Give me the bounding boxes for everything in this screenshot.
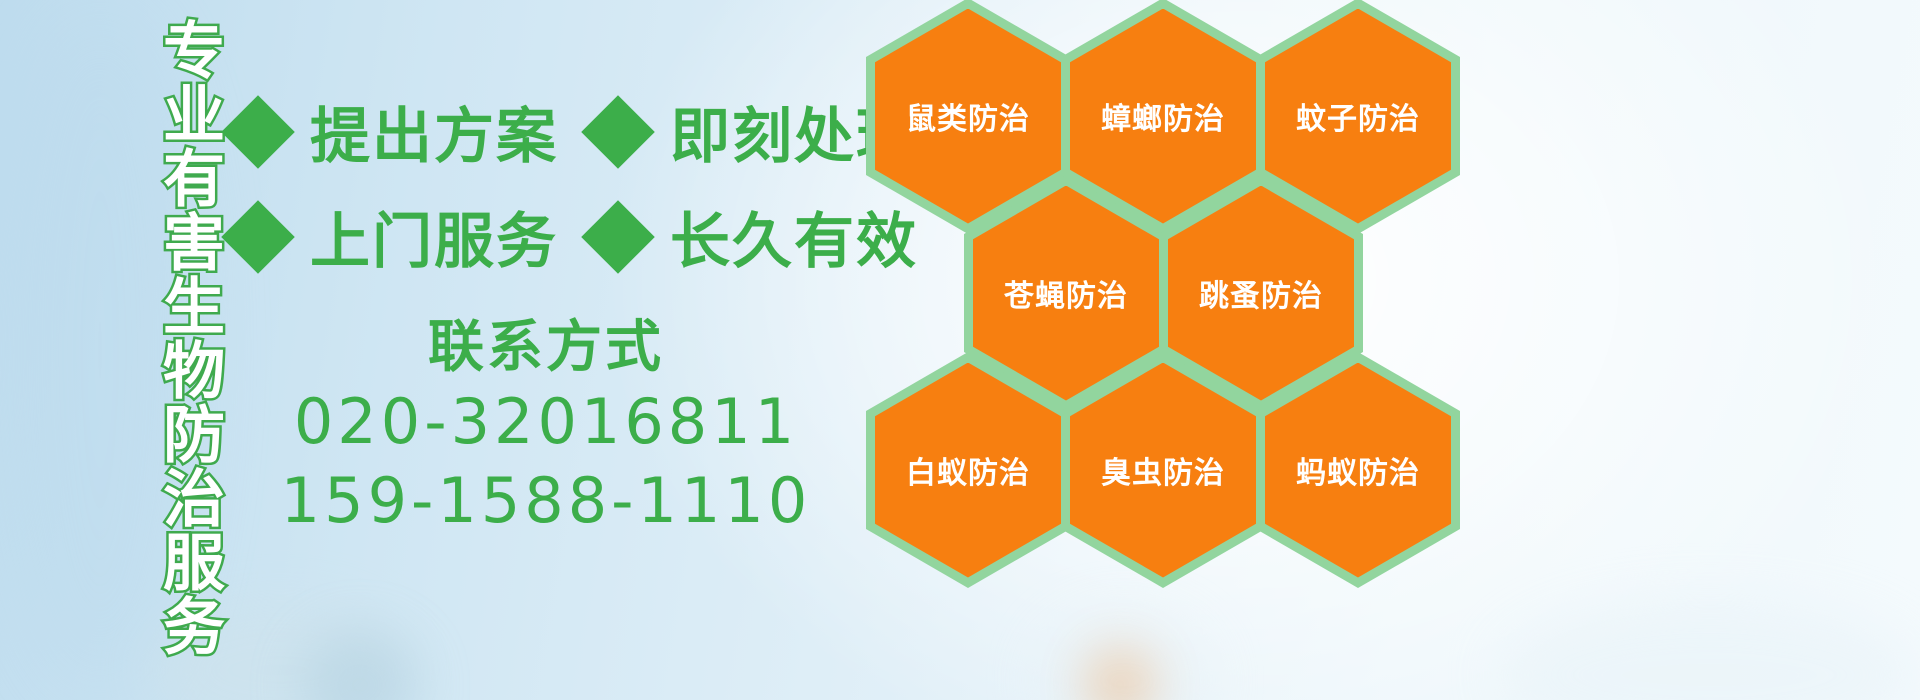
service-label-ant: 蚂蚁防治 (1296, 448, 1420, 492)
service-label-bedbug: 臭虫防治 (1101, 448, 1225, 492)
service-label-cockroach: 蟑螂防治 (1101, 94, 1225, 138)
service-label-fly: 苍蝇防治 (1004, 271, 1128, 315)
feature-label-onsite-service: 上门服务 (310, 193, 558, 280)
vertical-title: 专业有害生物防治服务 (104, 18, 220, 678)
service-label-flea: 跳蚤防治 (1199, 271, 1323, 315)
phone-number-mobile[interactable]: 159-1588-1110 (236, 461, 856, 540)
pest-control-banner: 专业有害生物防治服务 提出方案 即刻处理 上门服务 长久有效 联系方式 020-… (0, 0, 1920, 700)
service-label-termite: 白蚁防治 (906, 448, 1030, 492)
diamond-icon (581, 200, 655, 274)
service-label-rodent: 鼠类防治 (906, 94, 1030, 138)
hex-inner: 鼠类防治 (875, 9, 1061, 224)
feature-label-propose-plan: 提出方案 (310, 88, 558, 175)
diamond-icon (221, 200, 295, 274)
diamond-icon (221, 95, 295, 169)
contact-label: 联系方式 (236, 312, 856, 382)
hex-inner: 蟑螂防治 (1070, 9, 1256, 224)
background-blob-5 (1500, 600, 1920, 700)
phone-number-landline[interactable]: 020-32016811 (236, 382, 856, 461)
hex-inner: 蚂蚁防治 (1265, 363, 1451, 578)
hex-inner: 白蚁防治 (875, 363, 1061, 578)
hex-inner: 苍蝇防治 (973, 186, 1159, 401)
feature-row-2: 上门服务 长久有效 (232, 193, 918, 280)
diamond-icon (581, 95, 655, 169)
hex-inner: 蚊子防治 (1265, 9, 1451, 224)
feature-row-1: 提出方案 即刻处理 (232, 88, 918, 175)
hex-inner: 跳蚤防治 (1168, 186, 1354, 401)
hex-inner: 臭虫防治 (1070, 363, 1256, 578)
service-honeycomb: 鼠类防治 蟑螂防治 蚊子防治 苍蝇防治 跳蚤防治 白蚁防治 (856, 0, 1476, 700)
contact-block: 联系方式 020-32016811 159-1588-1110 (236, 312, 856, 541)
service-label-mosquito: 蚊子防治 (1296, 94, 1420, 138)
